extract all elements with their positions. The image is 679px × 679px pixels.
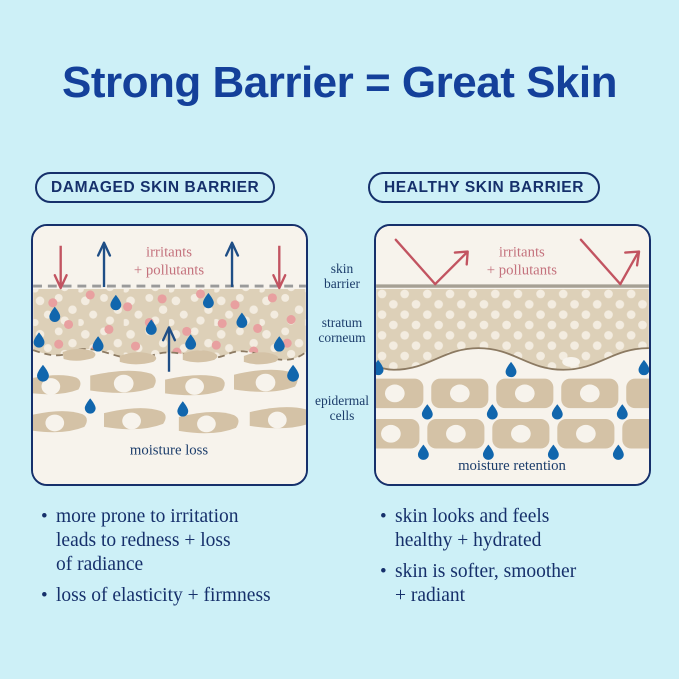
healthy-skin-diagram: irritants + pollutants [374, 224, 651, 486]
bullet-line: skin is softer, smoother [395, 561, 576, 582]
damaged-barrier-label: DAMAGED SKIN BARRIER [35, 172, 275, 203]
label-line: cells [330, 408, 355, 423]
bullet-line: loss of elasticity + firmness [56, 585, 271, 606]
bullet-line: + radiant [395, 585, 465, 606]
list-item: loss of elasticity + firmness [41, 584, 341, 608]
irritants-label-line1: irritants [499, 245, 545, 261]
list-item: skin looks and feels healthy + hydrated [380, 505, 679, 553]
infographic-page: Strong Barrier = Great Skin DAMAGED SKIN… [0, 0, 679, 679]
irritants-label-line2: + pollutants [487, 262, 558, 278]
label-line: stratum [322, 315, 363, 330]
bullet-line: healthy + hydrated [395, 530, 541, 551]
bullet-line: leads to redness + loss [56, 530, 231, 551]
list-item: skin is softer, smoother + radiant [380, 560, 679, 608]
damaged-skin-diagram: irritants + pollutants [31, 224, 308, 486]
label-line: skin [331, 261, 354, 276]
list-item: more prone to irritation leads to rednes… [41, 505, 341, 577]
bullet-line: more prone to irritation [56, 506, 239, 527]
bullet-line: of radiance [56, 554, 143, 575]
bullet-line: skin looks and feels [395, 506, 549, 527]
healthy-barrier-label: HEALTHY SKIN BARRIER [368, 172, 600, 203]
healthy-column: HEALTHY SKIN BARRIER [360, 0, 670, 679]
irritants-label-line1: irritants [146, 245, 192, 261]
healthy-bullet-list: skin looks and feels healthy + hydrated … [380, 505, 679, 615]
damaged-bullet-list: more prone to irritation leads to rednes… [41, 505, 341, 615]
irritants-label-line2: + pollutants [134, 262, 205, 278]
label-line: corneum [318, 330, 365, 345]
label-line: barrier [324, 276, 360, 291]
moisture-loss-caption: moisture loss [130, 442, 209, 458]
moisture-retention-caption: moisture retention [458, 458, 566, 474]
damaged-column: DAMAGED SKIN BARRIER [17, 0, 327, 679]
